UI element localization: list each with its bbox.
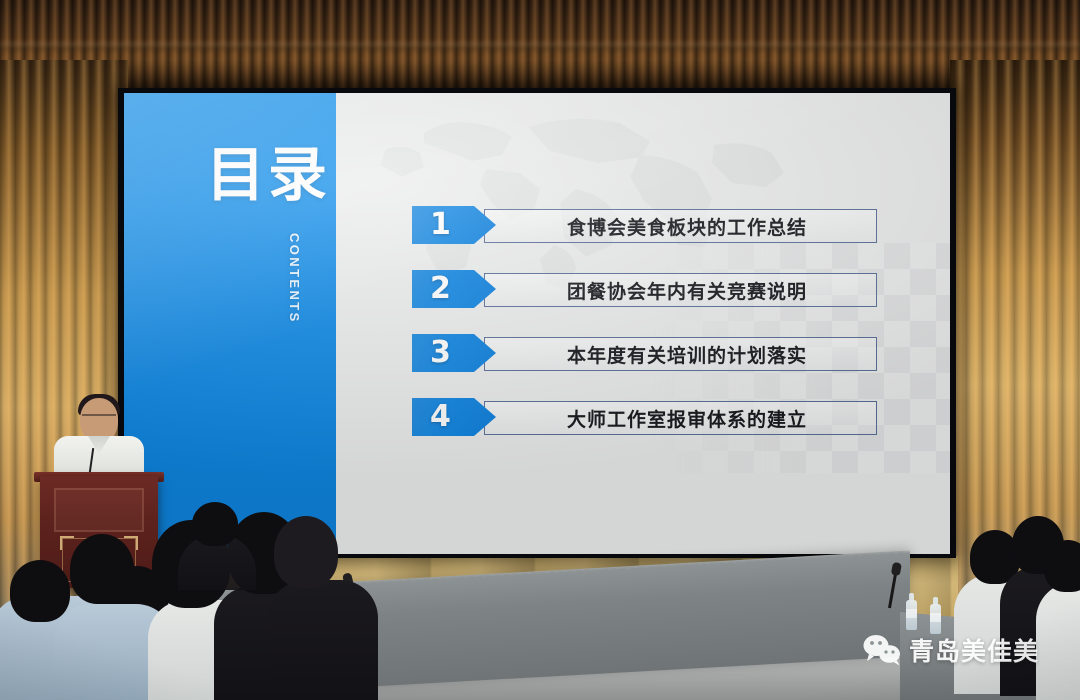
contents-item-1-label: 食博会美食板块的工作总结 <box>567 213 807 240</box>
conference-hall-photo: 目录 CONTENTS 食博会美食板块的工作总结 1 团餐协会年内有关竞赛说明 … <box>0 0 1080 700</box>
audience-member-body <box>1036 582 1080 700</box>
podium-upper-panel <box>54 488 144 532</box>
contents-item-4-number: 4 <box>430 402 451 432</box>
audience-member-head <box>10 560 70 622</box>
water-bottle <box>930 604 941 634</box>
watermark: 青岛美佳美 <box>862 632 1039 668</box>
contents-item-2-bar: 团餐协会年内有关竞赛说明 <box>484 273 877 307</box>
contents-item-2-label: 团餐协会年内有关竞赛说明 <box>567 277 807 304</box>
contents-item-3-label: 本年度有关培训的计划落实 <box>567 341 807 368</box>
slide-heading: 目录 <box>206 145 330 205</box>
watermark-text: 青岛美佳美 <box>909 632 1039 668</box>
water-bottle <box>906 600 917 630</box>
contents-item-4: 大师工作室报审体系的建立 4 <box>412 398 877 436</box>
audience-member-head <box>192 502 238 546</box>
speaker-glasses <box>82 414 116 423</box>
slide-contents-list: 食博会美食板块的工作总结 1 团餐协会年内有关竞赛说明 2 本年度有关培训的计划… <box>412 206 877 462</box>
audience-member-head <box>1044 540 1080 592</box>
audience-member-head <box>70 534 134 604</box>
audience-member-body <box>268 580 378 700</box>
podium-corner-ornament-left <box>60 536 74 550</box>
wechat-icon <box>862 634 902 666</box>
presentation-slide: 目录 CONTENTS 食博会美食板块的工作总结 1 团餐协会年内有关竞赛说明 … <box>124 93 950 554</box>
audience-member-head <box>274 516 338 588</box>
contents-item-3: 本年度有关培训的计划落实 3 <box>412 334 877 372</box>
contents-item-4-label: 大师工作室报审体系的建立 <box>567 405 807 432</box>
contents-item-1-number: 1 <box>430 210 451 240</box>
contents-item-3-number: 3 <box>430 338 451 368</box>
contents-item-2: 团餐协会年内有关竞赛说明 2 <box>412 270 877 308</box>
contents-item-4-bar: 大师工作室报审体系的建立 <box>484 401 877 435</box>
contents-item-3-bar: 本年度有关培训的计划落实 <box>484 337 877 371</box>
slide-heading-text: 目录 <box>206 145 330 205</box>
slide-subheading: CONTENTS <box>287 233 302 324</box>
contents-item-1: 食博会美食板块的工作总结 1 <box>412 206 877 244</box>
contents-item-2-number: 2 <box>430 274 451 304</box>
contents-item-1-bar: 食博会美食板块的工作总结 <box>484 209 877 243</box>
